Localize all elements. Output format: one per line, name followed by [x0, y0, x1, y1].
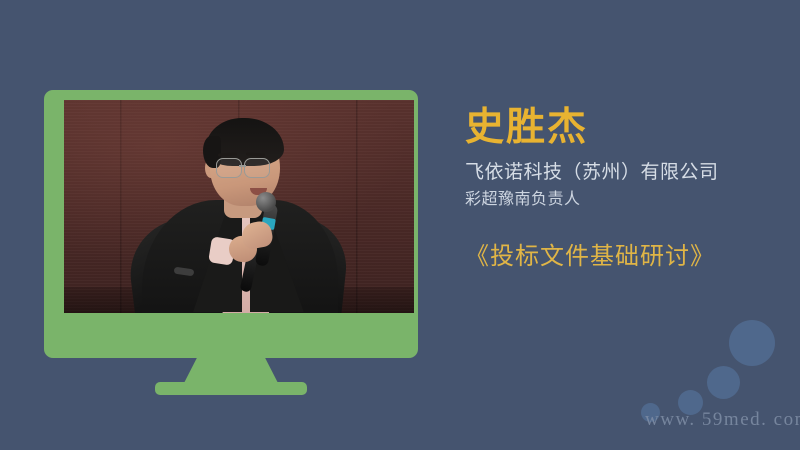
- speaker-name: 史胜杰: [465, 108, 785, 149]
- monitor-stand-neck: [183, 355, 279, 385]
- decorative-bubble-medium: [707, 366, 740, 399]
- monitor-screen-frame: [44, 90, 418, 358]
- microphone-head: [256, 192, 276, 212]
- speaker-role: 彩超豫南负责人: [465, 188, 785, 212]
- speaker-info-block: 史胜杰 飞依诺科技（苏州）有限公司 彩超豫南负责人 《投标文件基础研讨》: [465, 108, 785, 271]
- decorative-bubble-large: [729, 320, 775, 366]
- speaker-photo: [64, 100, 414, 313]
- speaker-figure: [64, 100, 414, 313]
- monitor-stand-base: [155, 382, 307, 395]
- site-watermark: www. 59med. com: [645, 409, 800, 431]
- speaker-company: 飞依诺科技（苏州）有限公司: [465, 159, 785, 187]
- presentation-slide: www. 59med. com: [0, 0, 800, 450]
- speaker-eyeglass-right: [244, 158, 270, 178]
- speaker-eyeglass-left: [216, 158, 242, 178]
- monitor-illustration: [44, 90, 418, 398]
- talk-title: 《投标文件基础研讨》: [465, 236, 785, 271]
- speaker-eyeglass-bridge: [239, 165, 246, 167]
